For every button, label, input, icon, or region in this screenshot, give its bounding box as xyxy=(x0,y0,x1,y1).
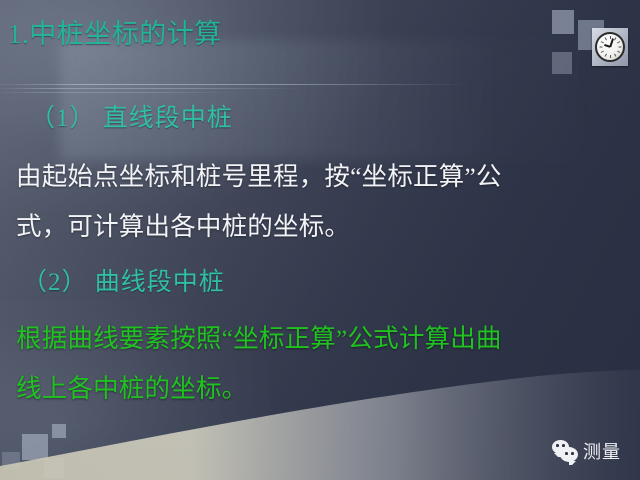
section-two-body: 根据曲线要素按照“坐标正算”公式计算出曲 线上各中桩的坐标。 xyxy=(16,314,630,414)
decorative-square xyxy=(552,10,574,34)
section-one-heading: （1） 直线段中桩 xyxy=(30,98,233,134)
decorative-square xyxy=(52,424,66,438)
decorative-square xyxy=(44,458,64,478)
body-line: 式，可计算出各中桩的坐标。 xyxy=(16,202,630,252)
section-one-body: 由起始点坐标和桩号里程，按“坐标正算”公 式，可计算出各中桩的坐标。 xyxy=(16,152,630,252)
page-title: 1.中桩坐标的计算 xyxy=(8,20,222,50)
watermark: 测量 xyxy=(552,438,621,464)
body-line: 由起始点坐标和桩号里程，按“坐标正算”公 xyxy=(16,152,630,202)
decorative-square xyxy=(2,452,20,470)
watermark-label: 测量 xyxy=(583,438,621,464)
body-line: 线上各中桩的坐标。 xyxy=(16,364,630,414)
slide-canvas: 1.中桩坐标的计算 （1） 直线段中桩 由起始点坐标和桩号里程，按“坐标正算”公… xyxy=(0,0,640,480)
clock-face xyxy=(595,32,625,62)
body-line: 根据曲线要素按照“坐标正算”公式计算出曲 xyxy=(16,314,630,364)
decorative-square xyxy=(22,434,48,460)
wechat-icon xyxy=(552,440,578,462)
section-two-heading: （2） 曲线段中桩 xyxy=(22,262,225,298)
clock-icon xyxy=(592,28,628,66)
title-divider xyxy=(0,84,470,98)
decorative-square xyxy=(552,52,572,74)
clock-tick-marks xyxy=(597,34,623,60)
